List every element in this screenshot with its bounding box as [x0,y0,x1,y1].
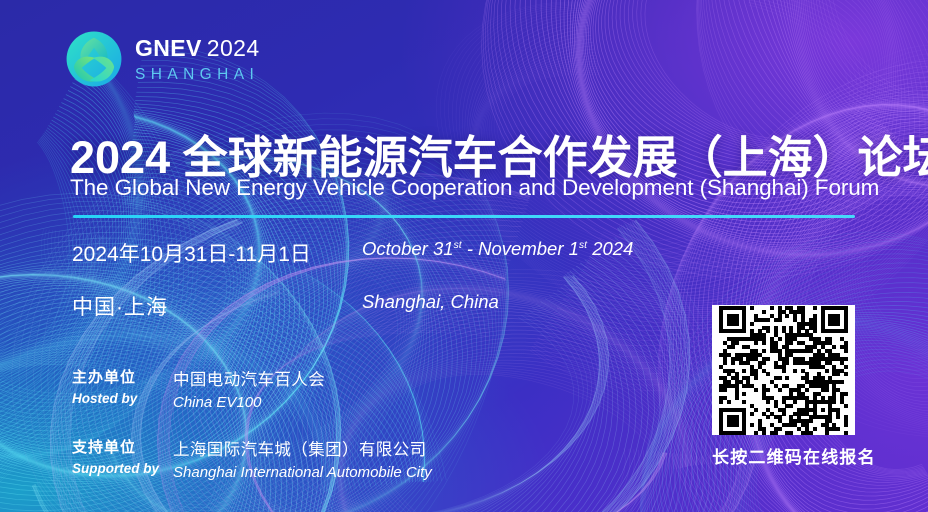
event-date-en-mid: - November 1 [462,238,579,259]
qr-caption: 长按二维码在线报名 [712,443,855,468]
brand-logo-block: GNEV2024 SHANGHAI [66,31,260,87]
sponsor-value-host: 中国电动汽车百人会 China EV100 [173,366,325,411]
sponsor-value-support-en: Shanghai International Automobile City [173,464,432,481]
event-location-row: 中国·上海 Shanghai, China [72,291,692,321]
sponsor-label-support: 支持单位 Supported by [72,436,173,481]
event-date-row: 2024年10月31日-11月1日 October 31st - Novembe… [72,238,692,268]
brand-year: 2024 [207,35,260,61]
sponsor-label-support-en: Supported by [72,461,173,476]
brand-name-row: GNEV2024 [135,37,260,60]
event-date-en-sup2: st [579,239,587,251]
event-date-en: October 31st - November 1st 2024 [362,238,633,268]
sponsor-group-host: 主办单位 Hosted by 中国电动汽车百人会 China EV100 [72,366,432,411]
event-location-en: Shanghai, China [362,291,499,321]
event-date-en-suffix: 2024 [587,238,633,259]
gnev-trefoil-leaf-circle-logo-icon [66,31,122,87]
event-date-en-prefix: October 31 [362,238,454,259]
brand-name: GNEV [135,35,202,61]
qr-code-icon [719,306,848,435]
sponsor-block: 主办单位 Hosted by 中国电动汽车百人会 China EV100 支持单… [72,366,432,481]
page-title-en: The Global New Energy Vehicle Cooperatio… [70,175,879,201]
sponsor-group-support: 支持单位 Supported by 上海国际汽车城（集团）有限公司 Shangh… [72,436,432,481]
sponsor-value-host-en: China EV100 [173,394,325,411]
qr-code[interactable] [712,305,855,435]
sponsor-value-host-cn: 中国电动汽车百人会 [173,366,325,390]
title-divider [73,215,855,218]
sponsor-value-support: 上海国际汽车城（集团）有限公司 Shanghai International A… [173,436,432,481]
event-location-cn: 中国·上海 [72,291,362,321]
sponsor-label-host-en: Hosted by [72,391,173,406]
event-date-en-sup1: st [454,239,462,251]
brand-city: SHANGHAI [135,67,260,83]
sponsor-value-support-cn: 上海国际汽车城（集团）有限公司 [173,436,432,460]
event-poster: GNEV2024 SHANGHAI 2024 全球新能源汽车合作发展（上海）论坛… [0,0,928,512]
sponsor-label-support-cn: 支持单位 [72,436,173,457]
event-date-cn: 2024年10月31日-11月1日 [72,238,362,268]
sponsor-label-host-cn: 主办单位 [72,366,173,387]
sponsor-label-host: 主办单位 Hosted by [72,366,173,411]
brand-logo-text: GNEV2024 SHANGHAI [135,35,260,83]
event-meta: 2024年10月31日-11月1日 October 31st - Novembe… [72,238,692,321]
